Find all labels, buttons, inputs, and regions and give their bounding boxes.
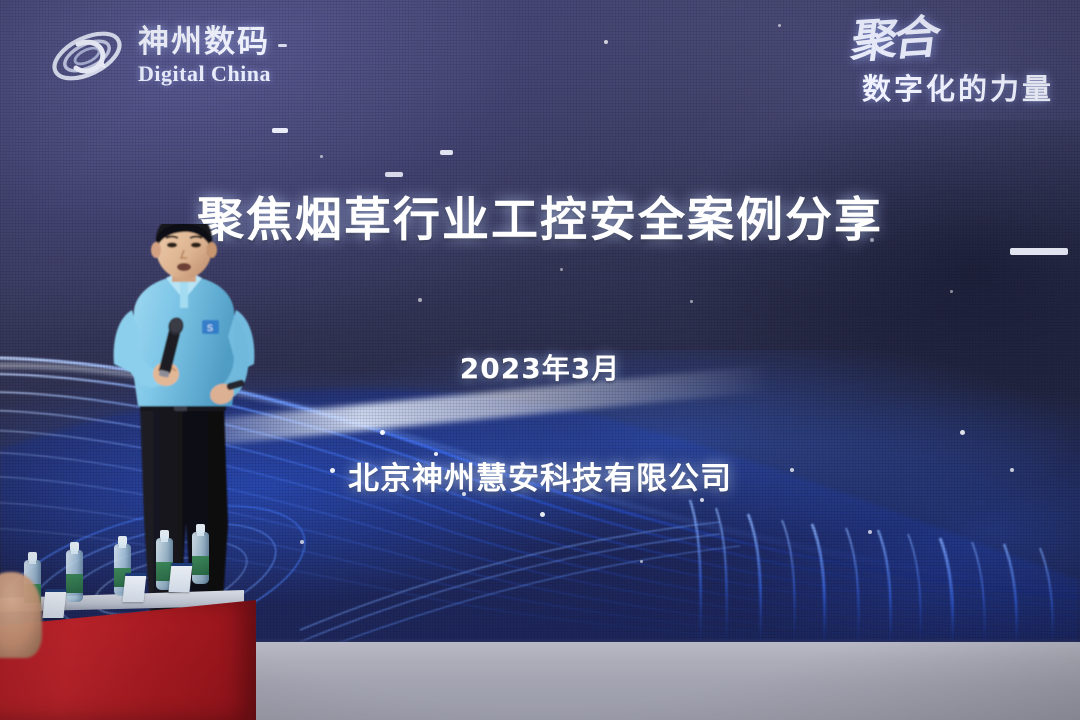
water-bottle [66,550,83,602]
slogan-subtitle: 数字化的力量 [852,66,1054,108]
water-bottle [192,532,209,584]
slogan-brush-text: 聚合 [849,15,940,64]
conference-stage-photo: 神州数码 Digital China 聚合 数字化的力量 聚焦烟草行业工控安全案… [0,0,1080,720]
logo-name-cn: 神州数码 [138,27,271,58]
foreground-table [0,550,262,720]
name-card [168,563,192,592]
name-card [122,573,146,602]
event-slogan: 聚合 数字化的力量 [852,18,1054,108]
logo-name-en: Digital China [138,63,271,85]
digital-china-swirl-logo-icon [48,24,126,88]
name-card [42,589,66,618]
svg-text:S: S [207,323,213,333]
brand-logo: 神州数码 Digital China [48,24,271,88]
